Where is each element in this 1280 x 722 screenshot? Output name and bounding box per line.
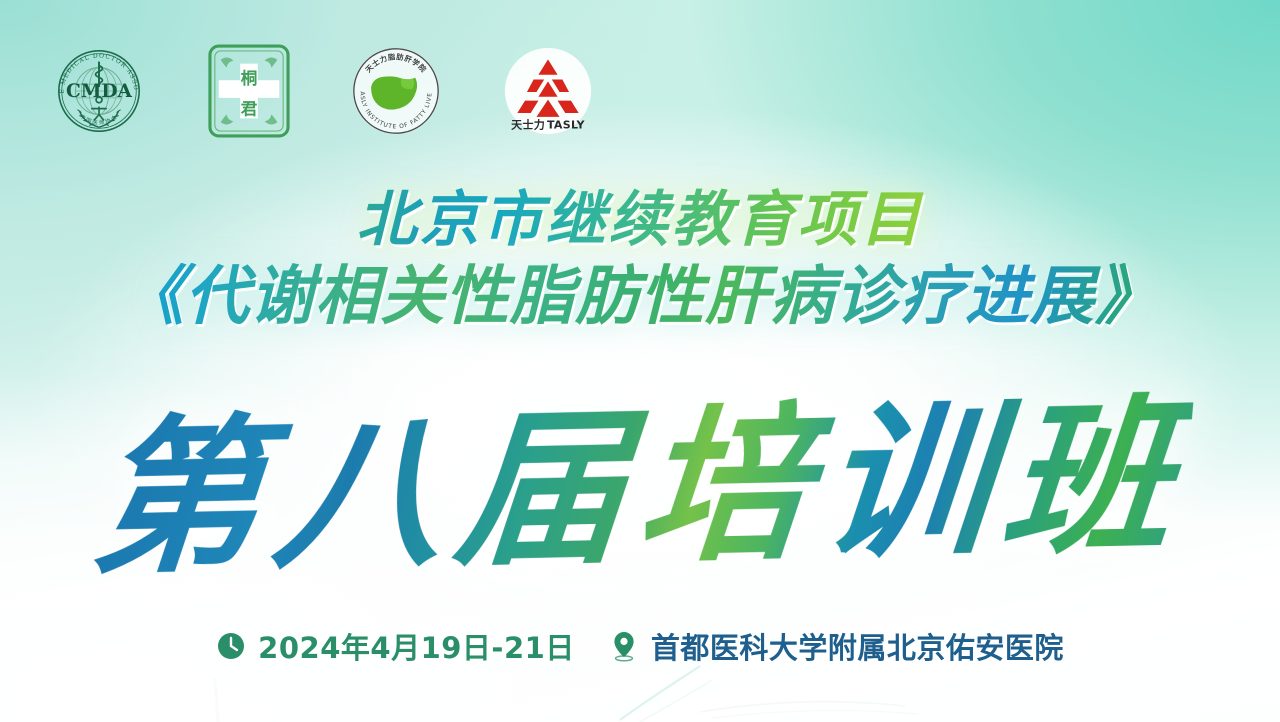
logo-cmda: CMDA CHINESE MEDICAL DOCTOR ASSOCIATION …	[50, 42, 148, 145]
conference-poster: CMDA CHINESE MEDICAL DOCTOR ASSOCIATION …	[0, 0, 1280, 722]
logo-tasly: 天士力TASLY	[502, 45, 594, 142]
logo-tasly-wordmark: 天士力TASLY	[511, 117, 585, 131]
logo-tasly-wordmark-cn: 天士力	[511, 117, 545, 131]
event-info-bar: 2024年4月19日-21日 首都医科大学附属北京佑安医院	[0, 625, 1280, 667]
event-venue-text: 首都医科大学附属北京佑安医院	[651, 625, 1064, 667]
logo-tongren-char-1: 桐	[241, 68, 258, 88]
event-date-item: 2024年4月19日-21日	[216, 625, 575, 667]
calligraphy-title-block: 第八届培训班	[0, 392, 1280, 612]
headline-block: 北京市继续教育项目 《代谢相关性脂肪性肝病诊疗进展》	[0, 188, 1280, 332]
organizer-logo-strip: CMDA CHINESE MEDICAL DOCTOR ASSOCIATION …	[50, 42, 594, 145]
headline-course-title-line: 《代谢相关性脂肪性肝病诊疗进展》	[0, 263, 1280, 332]
calligraphy-title: 第八届培训班	[85, 381, 1195, 595]
logo-tongren: 桐 君	[208, 44, 290, 143]
location-pin-icon	[609, 630, 639, 662]
logo-tasly-institute-of-fatty-liver: 天士力脂肪肝学院 TASLY INSTITUTE OF FATTY LIVER	[350, 45, 442, 142]
event-venue-item: 首都医科大学附属北京佑安医院	[609, 625, 1064, 667]
event-date-text: 2024年4月19日-21日	[258, 625, 575, 667]
headline-program-line: 北京市继续教育项目	[0, 188, 1280, 253]
logo-tongren-char-2: 君	[241, 99, 258, 118]
logo-tasly-wordmark-en: TASLY	[547, 118, 586, 131]
logo-cmda-abbrev: CMDA	[66, 81, 133, 102]
clock-icon	[216, 631, 246, 661]
